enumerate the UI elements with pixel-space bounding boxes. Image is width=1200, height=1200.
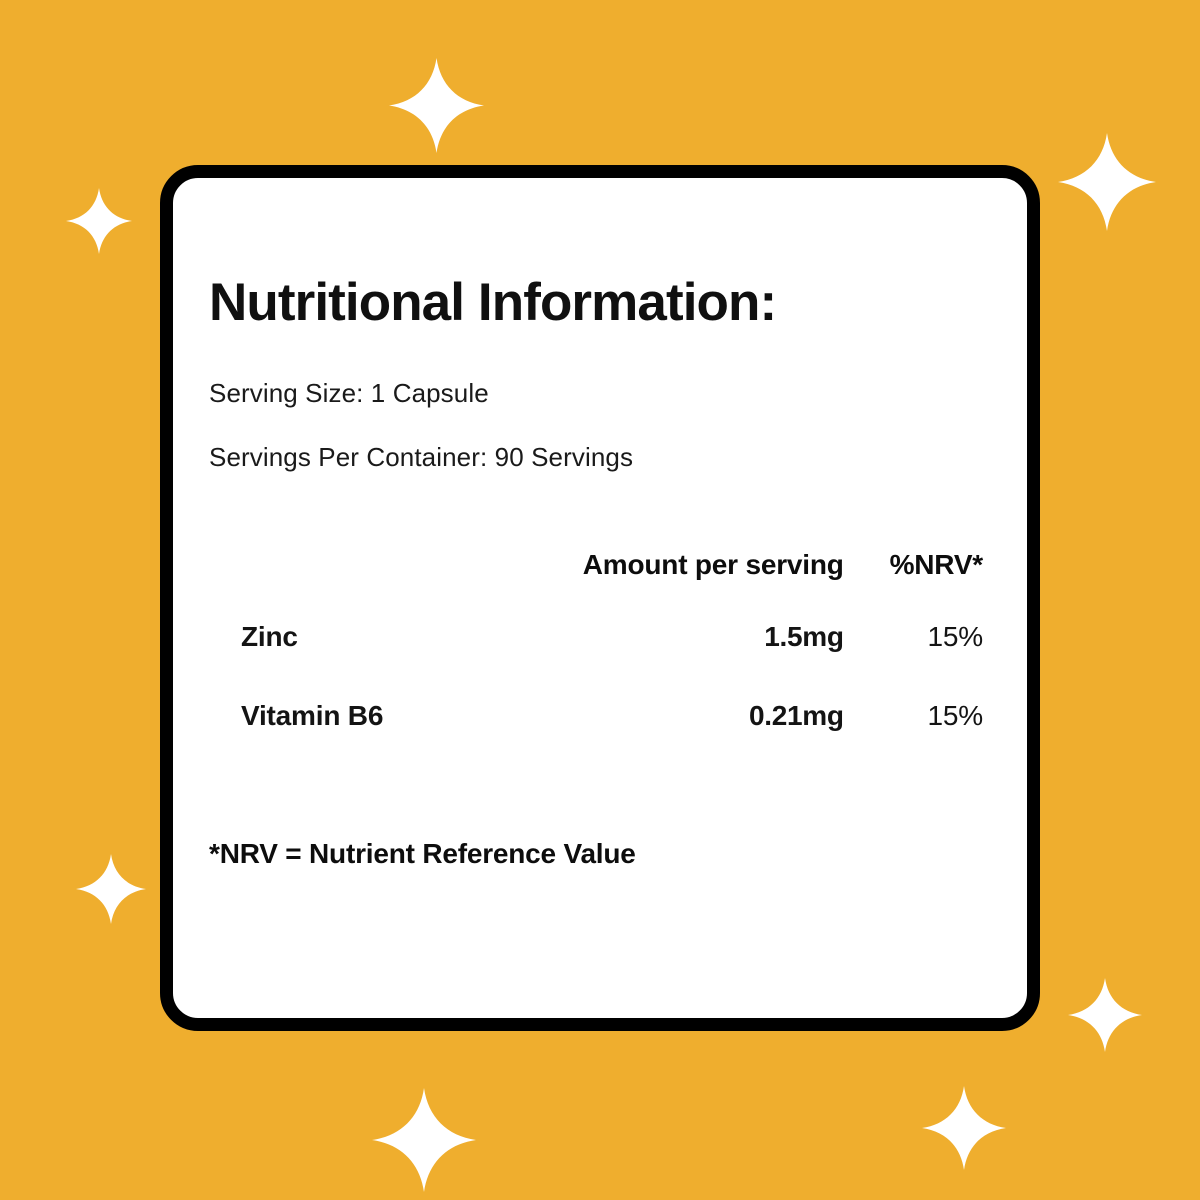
cell-amount: 0.21mg (565, 677, 844, 756)
nrv-footnote: *NRV = Nutrient Reference Value (209, 838, 983, 870)
page-title: Nutritional Information: (209, 274, 983, 332)
cell-nrv-percent: 15% (844, 677, 983, 756)
nutrition-card: Nutritional Information: Serving Size: 1… (160, 165, 1040, 1031)
sparkle-bottom-right-icon (922, 1086, 1006, 1170)
cell-nrv-percent: 15% (844, 598, 983, 677)
serving-size-text: Serving Size: 1 Capsule (209, 378, 983, 409)
cell-nutrient-name: Zinc (209, 598, 565, 677)
table-row: Vitamin B60.21mg15% (209, 677, 983, 756)
sparkle-right-lower-icon (1068, 978, 1142, 1052)
cell-amount: 1.5mg (565, 598, 844, 677)
sparkle-top-left-outer-icon (66, 188, 132, 254)
sparkle-bottom-center-icon (372, 1088, 476, 1192)
column-header-amount-per-serving: Amount per serving (565, 532, 844, 598)
sparkle-top-right-icon (1058, 133, 1156, 231)
table-header-row: Amount per serving %NRV* (209, 532, 983, 598)
sparkle-left-lower-icon (76, 854, 146, 924)
servings-per-container-text: Servings Per Container: 90 Servings (209, 442, 983, 473)
nutrition-table-header: Amount per serving %NRV* (209, 532, 983, 598)
nutrition-facts-table: Amount per serving %NRV* Zinc1.5mg15%Vit… (209, 532, 983, 756)
nutrition-card-content: Nutritional Information: Serving Size: 1… (173, 178, 1027, 1018)
nutrition-table-body: Zinc1.5mg15%Vitamin B60.21mg15% (209, 598, 983, 756)
table-row: Zinc1.5mg15% (209, 598, 983, 677)
sparkle-top-center-icon (389, 58, 484, 153)
column-header-nrv: %NRV* (844, 532, 983, 598)
column-header-nutrient (209, 532, 565, 598)
cell-nutrient-name: Vitamin B6 (209, 677, 565, 756)
